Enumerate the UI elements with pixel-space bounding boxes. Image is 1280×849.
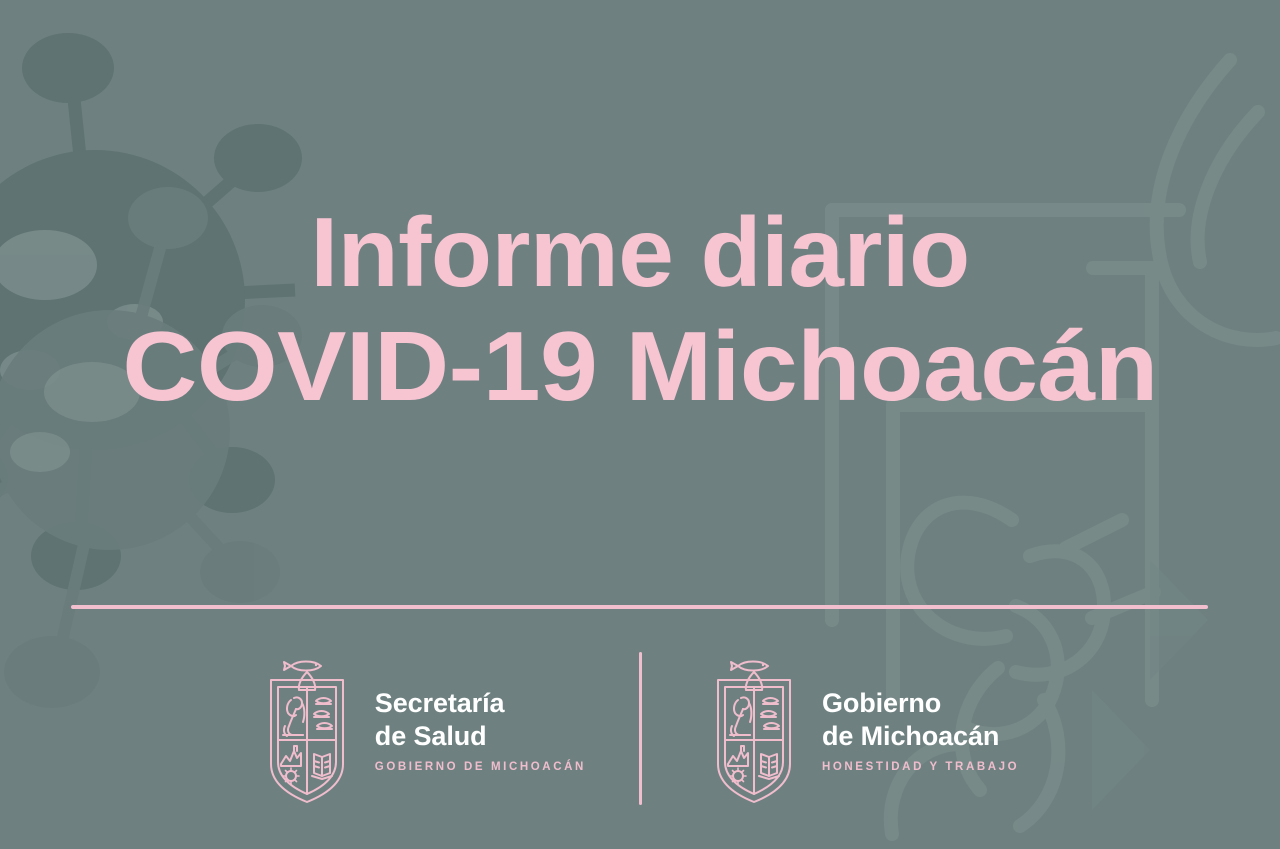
michoacan-coat-of-arms-icon [261,654,353,806]
gobierno-line-2: de Michoacán [822,720,1019,752]
secretaria-de-salud-logo: Secretaría de Salud GOBIERNO DE MICHOACÁ… [261,654,646,806]
secretaria-line-2: de Salud [375,720,586,752]
gobierno-tagline: HONESTIDAD Y TRABAJO [822,761,1019,773]
secretaria-tagline: GOBIERNO DE MICHOACÁN [375,761,586,773]
title-line-2: COVID-19 Michoacán [0,318,1280,414]
logo-vertical-divider [639,652,642,805]
gobierno-wordmark: Gobierno de Michoacán HONESTIDAD Y TRABA… [822,687,1019,772]
title-line-1: Informe diario [0,204,1280,300]
michoacan-coat-of-arms-icon [708,654,800,806]
secretaria-line-1: Secretaría [375,687,586,719]
gobierno-de-michoacan-logo: Gobierno de Michoacán HONESTIDAD Y TRABA… [646,654,1019,806]
covid-daily-report-poster: Informe diario COVID-19 Michoacán [0,0,1280,849]
secretaria-wordmark: Secretaría de Salud GOBIERNO DE MICHOACÁ… [375,687,586,772]
horizontal-divider [71,605,1208,609]
gobierno-line-1: Gobierno [822,687,1019,719]
poster-title: Informe diario COVID-19 Michoacán [0,204,1280,414]
